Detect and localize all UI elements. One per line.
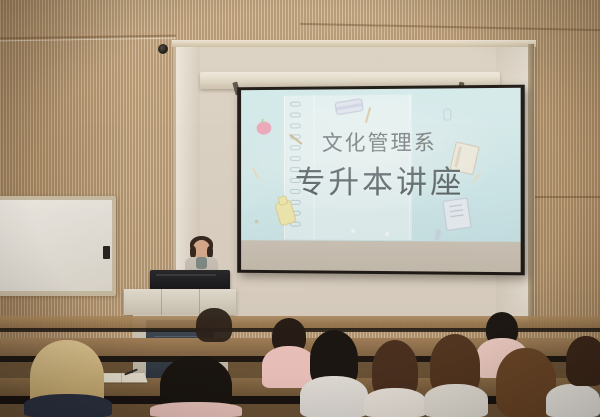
brown-hair-student-2-shirt [424,384,488,417]
pencil-icon-1 [365,107,371,123]
book-icon [449,141,479,175]
brown-hair-student-3-shirt [546,384,600,417]
spiral-binding-icon [290,102,300,233]
brown-hair-student-1-shirt [364,388,426,417]
whiteboard-marker-holder [103,246,110,259]
speaker-scarf [196,257,207,269]
glue-bottle-icon [274,199,297,227]
dark-hair-student-2-shirt [300,376,368,417]
blonde-student-shirt [24,394,112,417]
projection-screen: 文化管理系 专升本讲座 [237,85,525,276]
slide-title-line1: 文化管理系 [241,126,521,157]
open-notebook [96,373,147,382]
lecture-hall-photo: 文化管理系 专升本讲座 [0,0,600,417]
pen-icon [434,229,441,241]
paperclip-icon [443,109,451,121]
podium-panel-seam-2 [199,289,200,315]
eraser-icon [334,98,363,115]
screen-blank-area [241,240,521,272]
page-rule-line-2 [409,93,410,239]
notebook-page-motif [284,95,412,240]
projected-slide: 文化管理系 专升本讲座 [241,88,521,242]
notebook-icon [442,198,471,231]
whiteboard [0,196,116,296]
back-row-student-far-right-hair [566,336,600,386]
alcove-top-lip [172,40,536,47]
pencil-icon-4 [417,136,427,148]
page-rule-line-1 [314,94,315,239]
dark-hair-student-3-shirt [150,402,242,417]
pencil-icon-5 [472,172,482,183]
dot-decor-3 [255,220,259,224]
pencil-icon-3 [252,167,259,179]
dot-decor-1 [351,229,355,233]
whiteboard-surface[interactable] [0,200,112,291]
alcove-right-edge [528,44,534,322]
pencil-icon-2 [289,134,303,145]
wall-seam-far-right [532,196,600,198]
apple-icon [256,121,272,136]
screen-surface: 文化管理系 专升本讲座 [241,88,521,272]
podium-panel-seam-1 [161,289,162,315]
wall-speaker-icon [158,44,168,54]
dot-decor-2 [385,232,389,236]
slide-title-line2: 专升本讲座 [241,157,521,203]
front-head-silhouette [196,308,232,342]
